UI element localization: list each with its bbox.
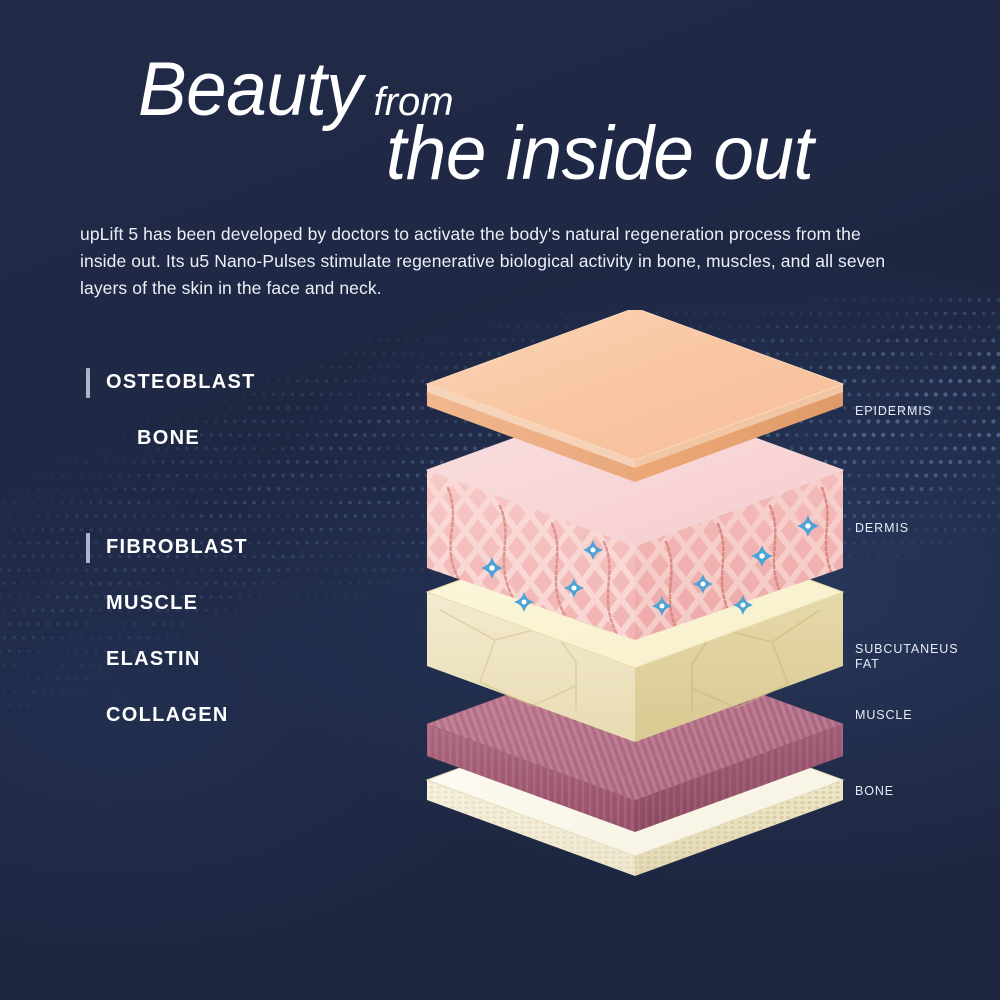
left-label-muscle: MUSCLE [106, 592, 198, 615]
left-label-bone: BONE [137, 427, 200, 450]
left-label-osteoblast: OSTEOBLAST [106, 371, 256, 394]
left-label-fibroblast: FIBROBLAST [106, 536, 248, 559]
left-label-elastin: ELASTIN [106, 648, 201, 671]
intro-paragraph: upLift 5 has been developed by doctors t… [80, 221, 910, 302]
left-label-collagen: COLLAGEN [106, 704, 229, 727]
right-label-subcutaneus: SUBCUTANEUSFAT [855, 642, 958, 672]
accent-bar-fibroblast [86, 533, 90, 563]
heading-text-inside-out: the inside out [386, 116, 813, 192]
skin-layer-diagram [400, 310, 870, 910]
heading-word-beauty: Beauty [138, 52, 362, 128]
right-label-line-1: SUBCUTANEUS [855, 642, 958, 656]
accent-bar-osteoblast [86, 368, 90, 398]
poster-canvas: Beautyfrom the inside out upLift 5 has b… [0, 0, 1000, 1000]
heading-line-2: the inside out [386, 116, 831, 192]
